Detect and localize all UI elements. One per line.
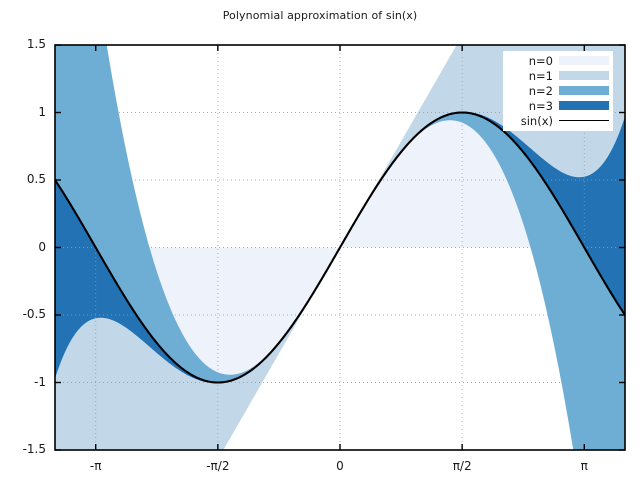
y-axis-tick-label: -0.5: [2, 307, 46, 321]
legend-label: n=0: [529, 54, 553, 68]
x-axis-tick-label: π/2: [432, 459, 492, 473]
legend: n=0n=1n=2n=3sin(x): [503, 51, 613, 131]
legend-item: n=2: [503, 83, 613, 98]
legend-label: n=2: [529, 84, 553, 98]
x-axis-tick-label: π: [554, 459, 614, 473]
legend-color-swatch: [559, 101, 609, 110]
legend-color-swatch: [559, 86, 609, 95]
legend-color-swatch: [559, 56, 609, 65]
legend-label: n=1: [529, 69, 553, 83]
legend-item: n=1: [503, 68, 613, 83]
y-axis-tick-label: -1.5: [2, 442, 46, 456]
x-axis-tick-label: -π/2: [188, 459, 248, 473]
x-axis-tick-label: -π: [66, 459, 126, 473]
y-axis-tick-label: 1: [2, 105, 46, 119]
y-axis-tick-label: 0: [2, 240, 46, 254]
legend-label: sin(x): [521, 114, 553, 128]
legend-label: n=3: [529, 99, 553, 113]
legend-item: sin(x): [503, 113, 613, 128]
y-axis-tick-label: -1: [2, 375, 46, 389]
legend-color-swatch: [559, 71, 609, 80]
legend-item: n=3: [503, 98, 613, 113]
chart-root: Polynomial approximation of sin(x) 1.510…: [0, 0, 640, 480]
legend-item: n=0: [503, 53, 613, 68]
legend-line-swatch: [559, 120, 609, 121]
y-axis-tick-label: 0.5: [2, 172, 46, 186]
x-axis-tick-label: 0: [310, 459, 370, 473]
y-axis-tick-label: 1.5: [2, 37, 46, 51]
